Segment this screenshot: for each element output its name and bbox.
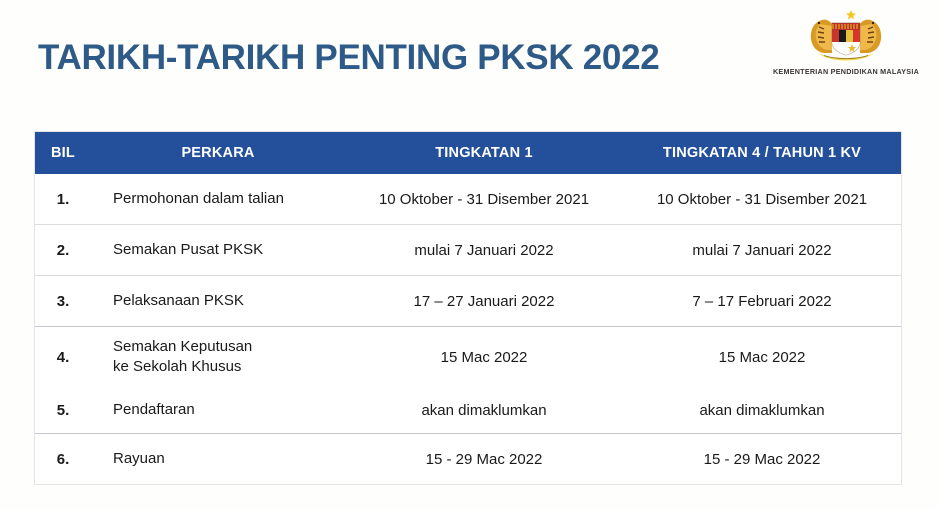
table-row: 4. Semakan Keputusan ke Sekolah Khusus 1… (35, 327, 901, 388)
cell-perkara-line1: Permohonan dalam talian (113, 189, 344, 209)
malaysia-coat-of-arms-icon (762, 6, 930, 66)
slide-header: TARIKH-TARIKH PENTING PKSK 2022 (0, 0, 940, 110)
cell-tingkatan4: 15 - 29 Mac 2022 (623, 434, 901, 485)
cell-perkara: Pelaksanaan PKSK (91, 276, 345, 327)
table-header: BIL PERKARA TINGKATAN 1 TINGKATAN 4 / TA… (35, 132, 901, 174)
cell-perkara-line2: ke Sekolah Khusus (113, 357, 344, 377)
cell-tingkatan4: 10 Oktober - 31 Disember 2021 (623, 174, 901, 225)
ministry-name: KEMENTERIAN PENDIDIKAN MALAYSIA (762, 67, 930, 76)
cell-tingkatan1: akan dimaklumkan (345, 387, 623, 434)
cell-bil: 5. (35, 387, 91, 434)
column-header-tingkatan1: TINGKATAN 1 (345, 132, 623, 174)
table-body: 1. Permohonan dalam talian 10 Oktober - … (35, 174, 901, 484)
cell-tingkatan1: mulai 7 Januari 2022 (345, 225, 623, 276)
column-header-bil: BIL (35, 132, 91, 174)
table-row: 3. Pelaksanaan PKSK 17 – 27 Januari 2022… (35, 276, 901, 327)
cell-bil: 6. (35, 434, 91, 485)
cell-bil: 1. (35, 174, 91, 225)
table-header-row: BIL PERKARA TINGKATAN 1 TINGKATAN 4 / TA… (35, 132, 901, 174)
table-row: 6. Rayuan 15 - 29 Mac 2022 15 - 29 Mac 2… (35, 434, 901, 485)
column-header-perkara: PERKARA (91, 132, 345, 174)
cell-perkara-line1: Semakan Keputusan (113, 337, 344, 357)
cell-tingkatan1: 17 – 27 Januari 2022 (345, 276, 623, 327)
cell-tingkatan4: mulai 7 Januari 2022 (623, 225, 901, 276)
cell-perkara-line1: Rayuan (113, 449, 344, 469)
column-header-tingkatan4: TINGKATAN 4 / TAHUN 1 KV (623, 132, 901, 174)
table-row: 2. Semakan Pusat PKSK mulai 7 Januari 20… (35, 225, 901, 276)
cell-perkara-line1: Pelaksanaan PKSK (113, 291, 344, 311)
cell-tingkatan4: 7 – 17 Februari 2022 (623, 276, 901, 327)
ministry-logo: KEMENTERIAN PENDIDIKAN MALAYSIA (762, 6, 930, 86)
cell-perkara-line1: Pendaftaran (113, 400, 344, 420)
cell-tingkatan1: 10 Oktober - 31 Disember 2021 (345, 174, 623, 225)
cell-tingkatan1: 15 Mac 2022 (345, 327, 623, 388)
cell-perkara: Semakan Pusat PKSK (91, 225, 345, 276)
cell-perkara: Rayuan (91, 434, 345, 485)
cell-bil: 4. (35, 327, 91, 388)
cell-perkara-line1: Semakan Pusat PKSK (113, 240, 344, 260)
cell-tingkatan1: 15 - 29 Mac 2022 (345, 434, 623, 485)
cell-perkara: Semakan Keputusan ke Sekolah Khusus (91, 327, 345, 388)
cell-tingkatan4: 15 Mac 2022 (623, 327, 901, 388)
cell-perkara: Pendaftaran (91, 387, 345, 434)
important-dates-table: BIL PERKARA TINGKATAN 1 TINGKATAN 4 / TA… (35, 132, 901, 484)
cell-bil: 3. (35, 276, 91, 327)
cell-perkara: Permohonan dalam talian (91, 174, 345, 225)
page-title: TARIKH-TARIKH PENTING PKSK 2022 (38, 38, 659, 78)
table-row: 1. Permohonan dalam talian 10 Oktober - … (35, 174, 901, 225)
table-row: 5. Pendaftaran akan dimaklumkan akan dim… (35, 387, 901, 434)
cell-bil: 2. (35, 225, 91, 276)
cell-tingkatan4: akan dimaklumkan (623, 387, 901, 434)
